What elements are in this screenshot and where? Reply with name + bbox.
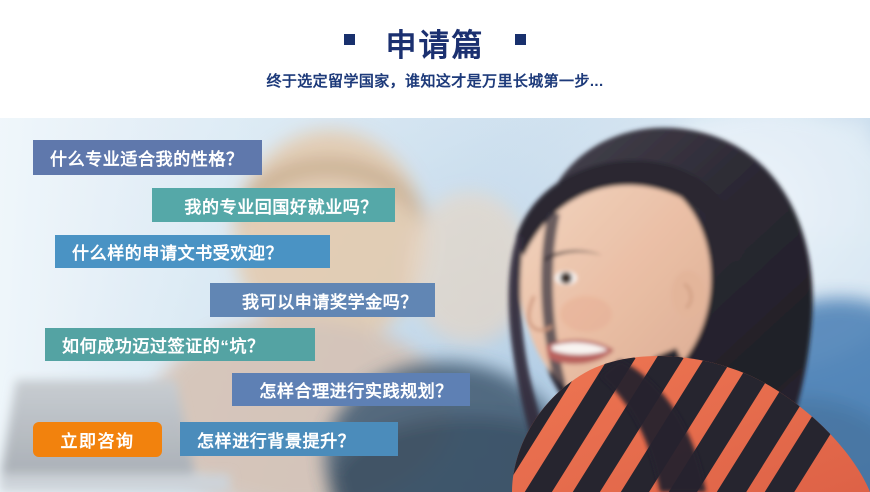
banner-header: 申请篇 终于选定留学国家，谁知这才是万里长城第一步... <box>0 0 870 118</box>
question-bar[interactable]: 怎样进行背景提升？ <box>180 422 398 456</box>
question-bar[interactable]: 什么专业适合我的性格？ <box>33 140 262 175</box>
question-bar[interactable]: 怎样合理进行实践规划？ <box>232 373 470 406</box>
page-subtitle: 终于选定留学国家，谁知这才是万里长城第一步... <box>0 70 870 91</box>
promo-banner: 申请篇 终于选定留学国家，谁知这才是万里长城第一步... <box>0 0 870 492</box>
question-bar[interactable]: 我的专业回国好就业吗？ <box>152 188 395 222</box>
square-bullet-right-icon <box>515 34 526 45</box>
question-bar[interactable]: 什么样的申请文书受欢迎？ <box>55 235 330 268</box>
question-bar[interactable]: 如何成功迈过签证的“坑？ <box>45 328 315 361</box>
square-bullet-left-icon <box>344 34 355 45</box>
page-title: 申请篇 <box>386 20 485 65</box>
title-row: 申请篇 <box>0 20 870 65</box>
question-bar[interactable]: 我可以申请奖学金吗？ <box>210 283 435 317</box>
consult-now-button[interactable]: 立即咨询 <box>33 422 162 457</box>
